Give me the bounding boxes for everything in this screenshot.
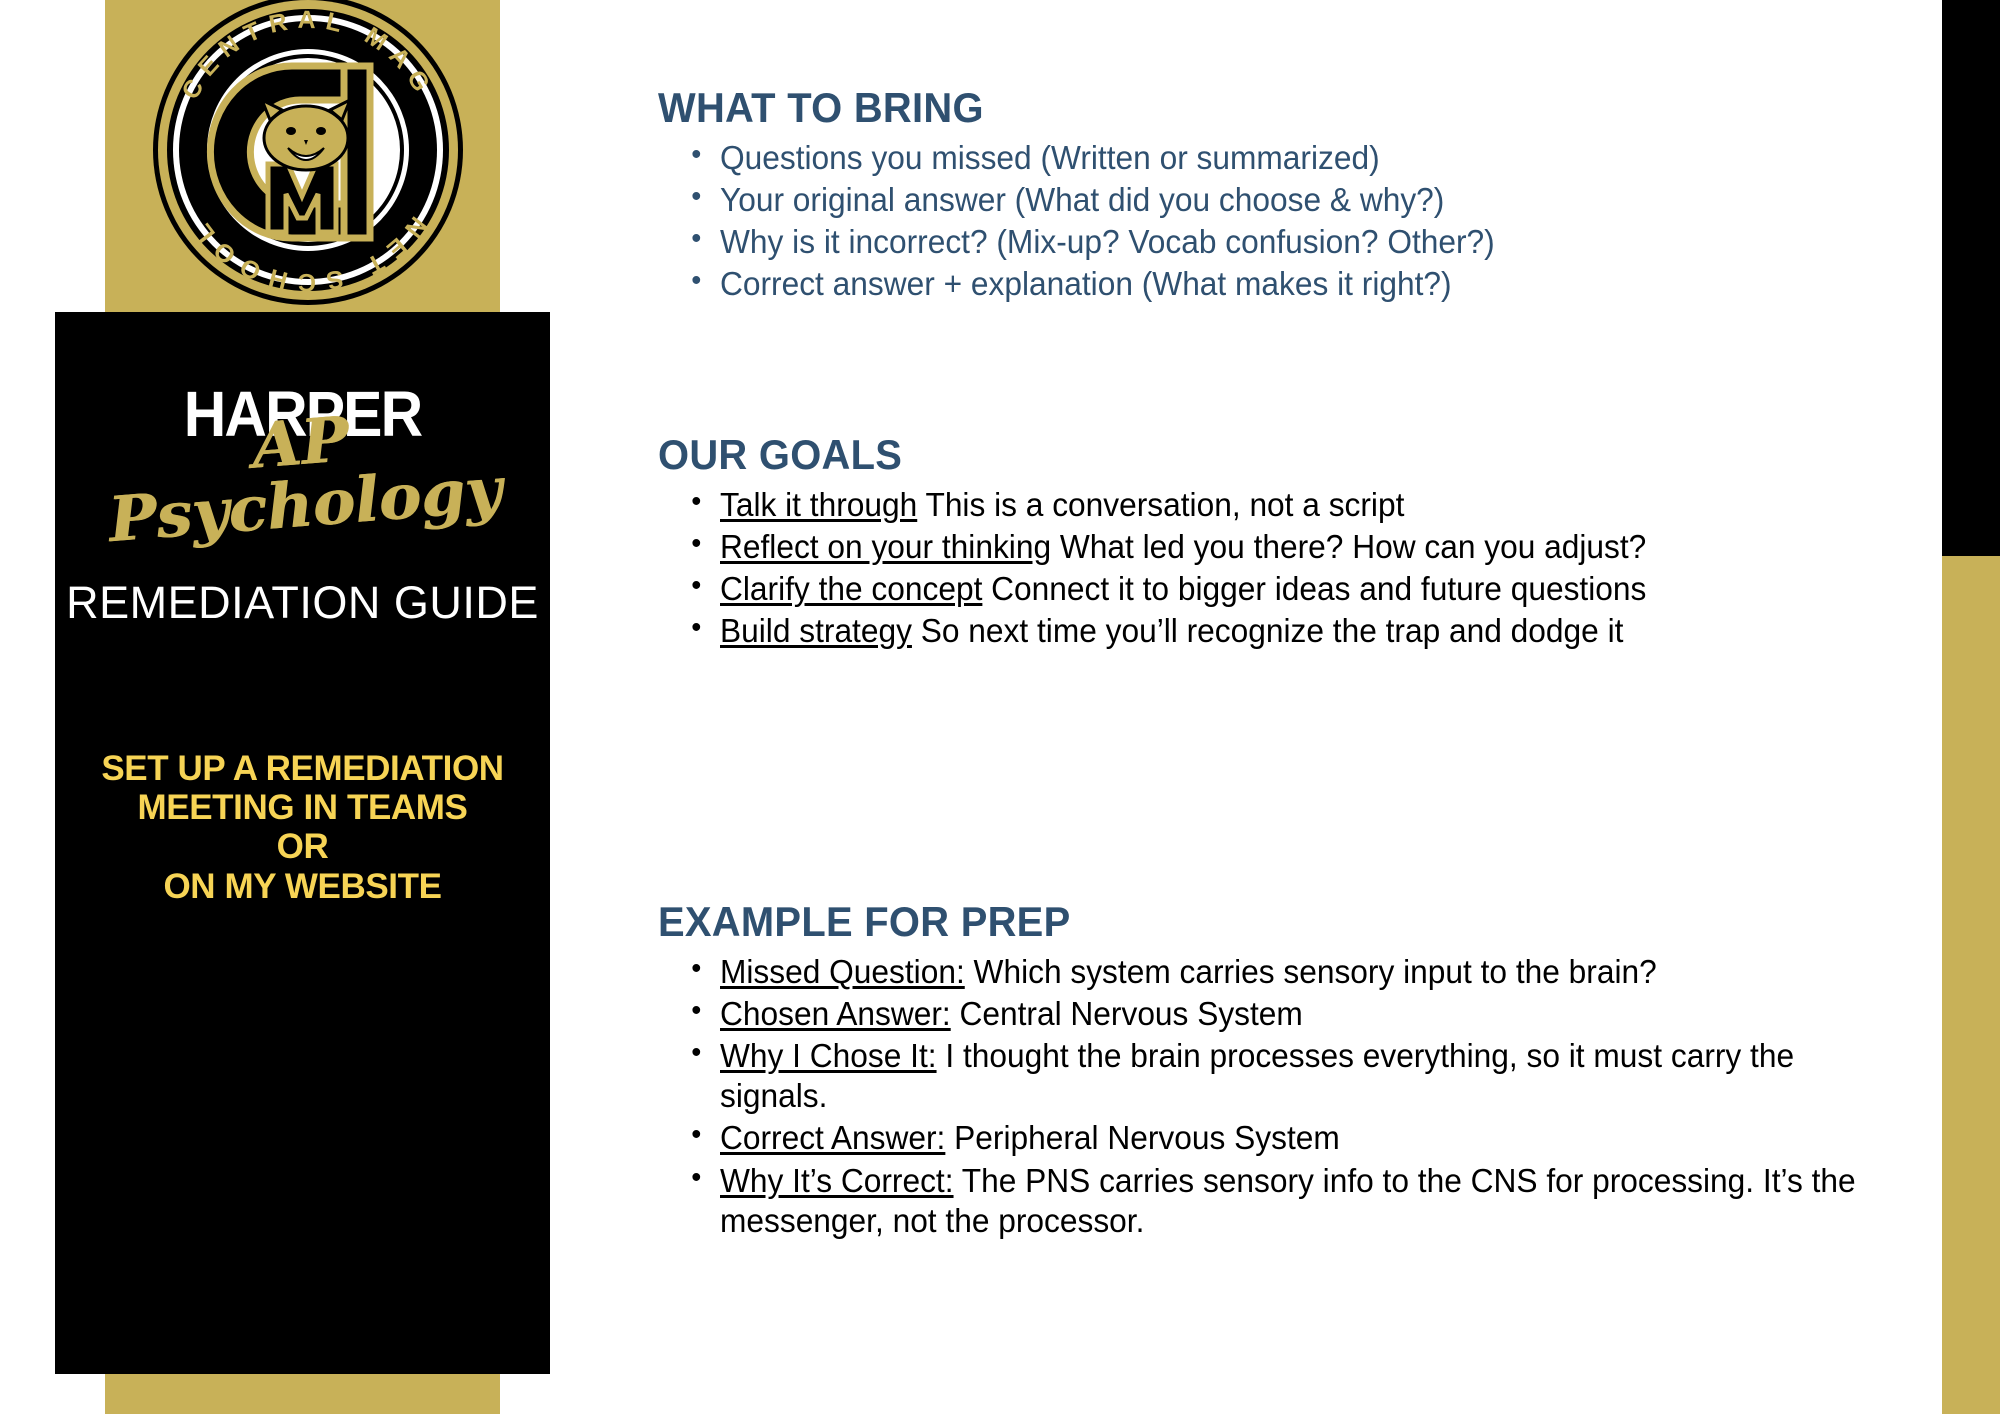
our-goals-list: Talk it through This is a conversation, … — [658, 485, 1913, 653]
item-text: Central Nervous System — [951, 995, 1303, 1032]
item-lead: Why I Chose It: — [720, 1037, 937, 1074]
item-text: So next time you’ll recognize the trap a… — [912, 612, 1623, 649]
course-info-card: HARPER AP Psychology REMEDIATION GUIDE S… — [55, 312, 550, 1374]
list-item: Clarify the concept Connect it to bigger… — [720, 569, 1865, 611]
content-column: WHAT TO BRING Questions you missed (Writ… — [650, 0, 1920, 1414]
list-item: Why is it incorrect? (Mix-up? Vocab conf… — [720, 222, 1865, 264]
section-heading: EXAMPLE FOR PREP — [658, 900, 1850, 944]
item-lead: Talk it through — [720, 486, 917, 523]
section-heading: WHAT TO BRING — [658, 86, 1850, 130]
section-our-goals: OUR GOALS Talk it through This is a conv… — [658, 433, 1913, 653]
item-lead: Reflect on your thinking — [720, 528, 1051, 565]
section-example-for-prep: EXAMPLE FOR PREP Missed Question: Which … — [658, 900, 1913, 1243]
item-lead: Build strategy — [720, 612, 912, 649]
list-item: Correct Answer: Peripheral Nervous Syste… — [720, 1118, 1865, 1160]
cta-line-3: OR — [63, 827, 542, 866]
item-text: Correct answer + explanation (What makes… — [720, 265, 1452, 302]
brand-lockup: HARPER AP Psychology — [55, 350, 550, 530]
list-item: Talk it through This is a conversation, … — [720, 485, 1865, 527]
item-text: Why is it incorrect? (Mix-up? Vocab conf… — [720, 223, 1495, 260]
item-text: Your original answer (What did you choos… — [720, 181, 1444, 218]
right-black-accent-bar — [1942, 0, 2000, 556]
item-text: Which system carries sensory input to th… — [965, 953, 1657, 990]
item-lead: Chosen Answer: — [720, 995, 951, 1032]
item-lead: Missed Question: — [720, 953, 965, 990]
page-title: REMEDIATION GUIDE — [55, 578, 550, 628]
item-text: Questions you missed (Written or summari… — [720, 139, 1380, 176]
list-item: Your original answer (What did you choos… — [720, 180, 1865, 222]
cta-line-4: ON MY WEBSITE — [63, 867, 542, 906]
cta-line-1: SET UP A REMEDIATION — [63, 749, 542, 788]
item-text: Peripheral Nervous System — [945, 1119, 1339, 1156]
list-item: Why It’s Correct: The PNS carries sensor… — [720, 1161, 1865, 1243]
what-to-bring-list: Questions you missed (Written or summari… — [658, 138, 1913, 306]
item-text: What led you there? How can you adjust? — [1051, 528, 1646, 565]
poster-page: CENTRAL MAG NET SCHOOL — [0, 0, 2000, 1414]
section-heading: OUR GOALS — [658, 433, 1850, 477]
list-item: Correct answer + explanation (What makes… — [720, 264, 1865, 306]
list-item: Build strategy So next time you’ll recog… — [720, 611, 1865, 653]
section-what-to-bring: WHAT TO BRING Questions you missed (Writ… — [658, 86, 1913, 306]
list-item: Questions you missed (Written or summari… — [720, 138, 1865, 180]
call-to-action-block: SET UP A REMEDIATION MEETING IN TEAMS OR… — [63, 749, 542, 906]
cta-line-2: MEETING IN TEAMS — [63, 788, 542, 827]
list-item: Missed Question: Which system carries se… — [720, 952, 1865, 994]
item-lead: Clarify the concept — [720, 570, 982, 607]
school-seal-logo: CENTRAL MAG NET SCHOOL — [148, 0, 468, 310]
list-item: Why I Chose It: I thought the brain proc… — [720, 1036, 1865, 1118]
item-text: Connect it to bigger ideas and future qu… — [982, 570, 1646, 607]
right-gold-accent-bar — [1942, 556, 2000, 1414]
list-item: Reflect on your thinking What led you th… — [720, 527, 1865, 569]
list-item: Chosen Answer: Central Nervous System — [720, 994, 1865, 1036]
item-lead: Correct Answer: — [720, 1119, 945, 1156]
example-for-prep-list: Missed Question: Which system carries se… — [658, 952, 1913, 1243]
item-text: This is a conversation, not a script — [917, 486, 1404, 523]
item-lead: Why It’s Correct: — [720, 1162, 954, 1199]
